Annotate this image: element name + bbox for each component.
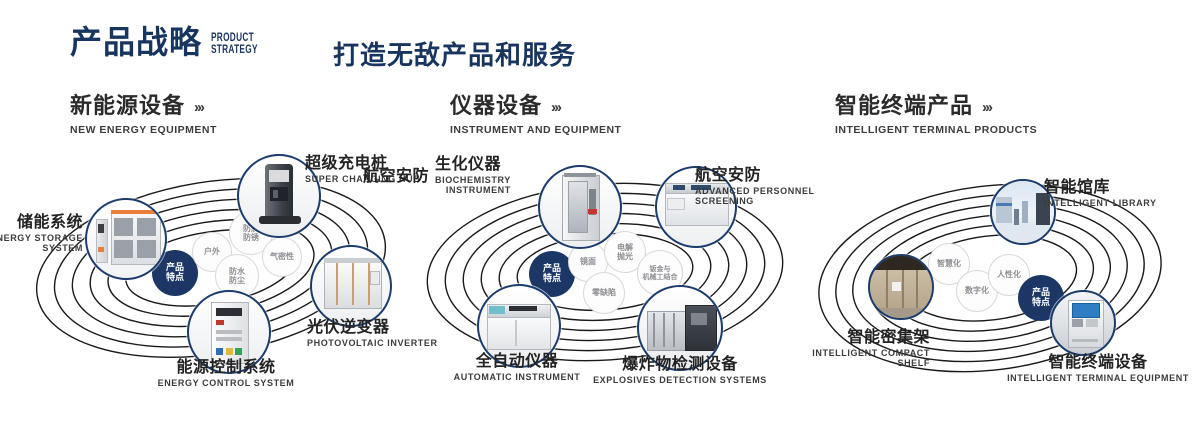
page-title: 产品战略 PRODUCT STRATEGY [70, 26, 276, 58]
label-aviation-security-left: 航空安防 [363, 167, 429, 185]
label-cn: 智能馆库 [1044, 178, 1157, 196]
section-title-en: NEW ENERGY EQUIPMENT [70, 124, 217, 136]
chevron-right-triple-icon: ››› [982, 100, 991, 115]
terminal-kiosk-icon [1052, 292, 1114, 354]
biochem-instrument-icon [540, 167, 620, 247]
feature-label: 户外 [204, 247, 220, 256]
cluster-instrument-and-equipment: 产品 特点 镜面 电解 抛光 零缺陷 钣金与 机械工结合 [405, 150, 805, 410]
label-en-line1: ENERGY CONTROL SYSTEM [121, 378, 331, 388]
label-cn: 储能系统 [0, 213, 83, 231]
label-en-line2: SYSTEM [0, 243, 83, 253]
compact-shelf-icon [870, 256, 932, 318]
feature-label: 零缺陷 [592, 288, 616, 297]
label-en-line1: ADVANCED PERSONNEL [695, 186, 815, 196]
chevron-right-triple-icon: ››› [194, 100, 203, 115]
cluster-intelligent-terminal-products: 智慧化 数字化 人性化 产品 特点 智 [800, 150, 1200, 410]
node-intelligent-compact-shelf[interactable] [868, 254, 934, 320]
feature-label-b: 抛光 [617, 252, 633, 261]
label-en-line1: ENERGY STORAGE [0, 233, 83, 243]
label-cn: 能源控制系统 [121, 358, 331, 376]
node-photovoltaic-inverter[interactable] [310, 245, 392, 327]
battery-cabinet-icon [87, 200, 165, 278]
label-cn: 生化仪器 [435, 155, 511, 173]
page-title-en-line1: PRODUCT [211, 33, 258, 45]
page-title-cn: 产品战略 [70, 26, 202, 58]
core-line2: 特点 [166, 273, 184, 283]
section-header-instrument: 仪器设备 ››› INSTRUMENT AND EQUIPMENT [450, 96, 621, 136]
feature-label: 镜面 [580, 257, 596, 266]
feature-label: 智慧化 [937, 259, 961, 268]
label-en-line1: INTELLIGENT TERMINAL EQUIPMENT [998, 373, 1198, 383]
node-biochemistry-instrument[interactable] [538, 165, 622, 249]
section-title-cn: 新能源设备 [70, 96, 185, 118]
feature-label-b: 防尘 [229, 276, 245, 285]
label-en-line2: SCREENING [695, 196, 815, 206]
feature-label-a: 防水 [229, 267, 245, 276]
feature-bubble-zero-defect[interactable]: 零缺陷 [583, 272, 625, 314]
page-title-en: PRODUCT STRATEGY [211, 33, 258, 56]
label-intelligent-terminal-equipment: 智能终端设备 INTELLIGENT TERMINAL EQUIPMENT [998, 353, 1198, 383]
cluster-new-energy-equipment: 产品 特点 户外 防腐 防锈 防水 防尘 气密性 [15, 150, 415, 410]
label-advanced-personnel-screening: 航空安防 ADVANCED PERSONNEL SCREENING [695, 166, 815, 206]
feature-label-a: 钣金与 [650, 265, 671, 273]
section-title-cn: 仪器设备 [450, 96, 542, 118]
label-en-line2: SHELF [760, 358, 930, 368]
pv-inverter-icon [312, 247, 390, 325]
product-strategy-infographic: 产品战略 PRODUCT STRATEGY 打造无敌产品和服务 新能源设备 ››… [0, 0, 1200, 422]
label-cn: 航空安防 [363, 167, 429, 185]
label-biochemistry-instrument: 生化仪器 BIOCHEMISTRY INSTRUMENT [435, 155, 511, 195]
label-intelligent-library: 智能馆库 INTELLIGENT LIBRARY [1044, 178, 1157, 208]
feature-label-b: 机械工结合 [643, 273, 678, 281]
section-header-intelligent-terminal: 智能终端产品 ››› INTELLIGENT TERMINAL PRODUCTS [835, 96, 1037, 136]
label-energy-storage-system: 储能系统 ENERGY STORAGE SYSTEM [0, 213, 83, 253]
node-intelligent-terminal-equipment[interactable] [1050, 290, 1116, 356]
core-line1: 产品 [166, 263, 184, 273]
core-line1: 产品 [543, 264, 561, 274]
section-header-new-energy: 新能源设备 ››› NEW ENERGY EQUIPMENT [70, 96, 217, 136]
label-cn: 爆炸物检测设备 [575, 355, 785, 373]
label-explosives-detection-systems: 爆炸物检测设备 EXPLOSIVES DETECTION SYSTEMS [575, 355, 785, 385]
label-cn: 智能密集架 [760, 328, 930, 346]
page-title-en-line2: STRATEGY [211, 45, 258, 57]
label-en-line2: INSTRUMENT [435, 185, 511, 195]
label-en-line1: INTELLIGENT COMPACT [760, 348, 930, 358]
label-en-line1: BIOCHEMISTRY [435, 175, 511, 185]
label-energy-control-system: 能源控制系统 ENERGY CONTROL SYSTEM [121, 358, 331, 388]
feature-bubble-airtight[interactable]: 气密性 [262, 237, 302, 277]
chevron-right-triple-icon: ››› [551, 100, 560, 115]
feature-label: 气密性 [270, 252, 294, 261]
core-line2: 特点 [1032, 298, 1050, 308]
label-cn: 航空安防 [695, 166, 815, 184]
section-title-en: INSTRUMENT AND EQUIPMENT [450, 124, 621, 136]
page-subtitle: 打造无敌产品和服务 [333, 35, 576, 72]
core-line1: 产品 [1032, 288, 1050, 298]
feature-label: 数字化 [965, 286, 989, 295]
label-en-line1: INTELLIGENT LIBRARY [1044, 198, 1157, 208]
node-energy-storage-system[interactable] [85, 198, 167, 280]
feature-label: 人性化 [997, 270, 1021, 279]
section-title-cn: 智能终端产品 [835, 96, 973, 118]
label-cn: 智能终端设备 [998, 353, 1198, 371]
label-intelligent-compact-shelf: 智能密集架 INTELLIGENT COMPACT SHELF [760, 328, 930, 368]
label-en-line1: EXPLOSIVES DETECTION SYSTEMS [575, 375, 785, 385]
section-title-en: INTELLIGENT TERMINAL PRODUCTS [835, 124, 1037, 136]
core-line2: 特点 [543, 274, 561, 284]
